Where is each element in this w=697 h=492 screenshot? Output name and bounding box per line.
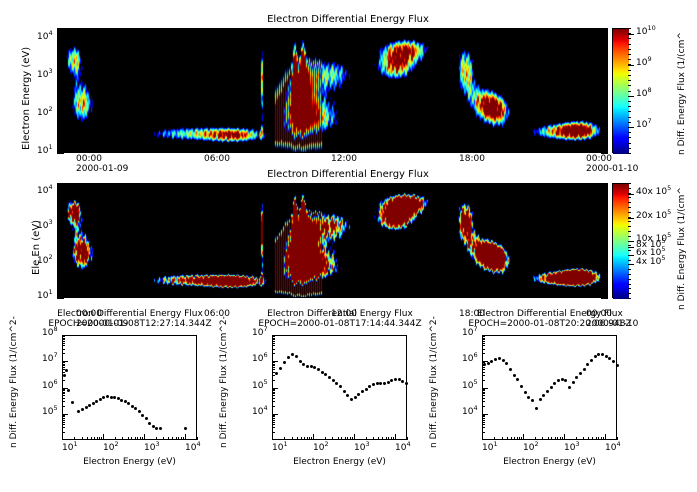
middle-spectrogram-frame — [57, 183, 608, 298]
ytick-minor — [57, 239, 61, 240]
cbar-tick-0 — [628, 194, 634, 195]
spec0-xtick-label-0: 101 — [62, 444, 78, 453]
spectrum-plot-0[interactable] — [62, 335, 197, 440]
xtick-minor-top — [544, 28, 545, 32]
spec2-xtick-minor — [562, 437, 563, 440]
spec2-ytick-minor — [482, 341, 485, 342]
cbar-tick-minor — [628, 274, 631, 275]
xtick-minor-top — [522, 183, 523, 187]
cbar-tick-minor — [628, 202, 631, 203]
spec1-xtick-minor — [338, 437, 339, 440]
cbar-tick-minor — [628, 64, 631, 65]
ytick-minor-right — [604, 41, 608, 42]
xtick-minor-top — [76, 28, 77, 32]
cbar-tick-minor — [628, 241, 631, 242]
spec2-ytick-minor — [482, 369, 485, 370]
spec1-xtick-label-1: 102 — [313, 444, 329, 453]
ytick-minor — [57, 51, 61, 52]
spectrum-point — [306, 365, 309, 368]
xtick-minor-top — [565, 28, 566, 32]
xtick-minor-top — [480, 183, 481, 187]
ytick-label-4: 104 — [37, 33, 53, 42]
xtick-minor-top — [501, 183, 502, 187]
spec2-ytick-minor — [482, 372, 485, 373]
xtick-minor-top — [395, 183, 396, 187]
spectrum-point — [138, 410, 141, 413]
ytick-minor — [57, 48, 61, 49]
spectrum-point — [302, 363, 305, 366]
spec2-ytick-minor — [482, 401, 485, 402]
spec0-ytick-minor — [62, 341, 65, 342]
spec2-ytick-label-1: 106 — [462, 355, 478, 364]
xtick-minor — [416, 149, 417, 153]
spec1-ytick-minor — [272, 338, 275, 339]
spec0-xtick — [144, 434, 145, 440]
xtick-minor — [395, 149, 396, 153]
spec2-xtick-minor — [519, 437, 520, 440]
spec0-ytick-minor — [62, 420, 65, 421]
ytick-minor — [57, 127, 61, 128]
ytick-minor-right — [604, 274, 608, 275]
xtick-minor — [586, 149, 587, 153]
cbar-tick-minor — [628, 122, 631, 123]
spectrum-point — [597, 353, 600, 356]
ytick-minor — [57, 43, 61, 44]
ytick-minor-right — [604, 124, 608, 125]
cbar-tick-minor — [628, 279, 631, 280]
cbar-tick-0 — [628, 34, 634, 35]
ytick-minor — [57, 199, 61, 200]
spec2-xtick-minor — [583, 437, 584, 440]
spec1-xtick-minor — [304, 437, 305, 440]
spec2-ytick-minor — [482, 353, 485, 354]
spec2-xtick-minor — [502, 437, 503, 440]
ytick-minor — [57, 79, 61, 80]
ytick-minor — [57, 232, 61, 233]
xtick-date-0: 2000-01-09 — [76, 165, 128, 174]
spec2-ytick-minor — [482, 345, 485, 346]
cbar-tick-minor — [628, 193, 631, 194]
spectrum-point — [498, 357, 501, 360]
spec1-ytick-minor — [272, 341, 275, 342]
spec2-ytick-minor — [482, 367, 485, 368]
spectrum-point — [71, 401, 74, 404]
cbar-tick-minor — [628, 75, 631, 76]
spec0-xtick-minor — [128, 437, 129, 440]
ytick-minor — [57, 269, 61, 270]
spectrum-epoch-1: EPOCH=2000-01-08T17:14:44.344Z — [258, 320, 421, 329]
spectrum-point — [339, 385, 342, 388]
cbar-tick-minor — [628, 96, 631, 97]
spectrum-point — [539, 398, 542, 401]
spec2-ytick-minor — [482, 339, 485, 340]
spec0-xtick-minor — [172, 437, 173, 440]
spec2-xtick-minor — [517, 437, 518, 440]
spec1-ytick-label-3: 104 — [252, 408, 268, 417]
cbar-tick-minor — [628, 188, 631, 189]
xtick-minor-top — [182, 183, 183, 187]
cbar-tick-minor — [628, 293, 631, 294]
spectrum-point — [379, 382, 382, 385]
cbar-tick-minor — [628, 91, 631, 92]
spec2-ytick-minor — [482, 362, 485, 363]
spec0-ytick-label-0: 108 — [42, 329, 58, 338]
spec1-xtick-minor — [378, 437, 379, 440]
ytick-major-2 — [57, 115, 64, 116]
spec2-xtick-minor — [576, 437, 577, 440]
xtick-minor-top — [607, 28, 608, 32]
xtick-minor-top — [459, 183, 460, 187]
ytick-minor-right — [604, 267, 608, 268]
xtick-minor-top — [97, 28, 98, 32]
spec1-xtick-minor — [366, 437, 367, 440]
spec2-xtick-minor — [514, 437, 515, 440]
spec1-xtick-minor — [307, 437, 308, 440]
xtick-minor-top — [331, 183, 332, 187]
spec0-ytick-minor — [62, 365, 65, 366]
ytick-minor-right — [604, 236, 608, 237]
cbar-tick-minor — [628, 197, 631, 198]
ytick-label-2: 102 — [37, 257, 53, 266]
xtick-minor-top — [140, 28, 141, 32]
spec1-ytick-minor — [272, 345, 275, 346]
xtick-minor-top — [395, 28, 396, 32]
ytick-minor — [57, 45, 61, 46]
spectrum-title-2: Electron Differential Energy Flux — [477, 310, 623, 319]
cbar-tick-minor — [628, 231, 631, 232]
spectrum-point — [502, 359, 505, 362]
spec1-ytick-minor — [272, 343, 275, 344]
spec1-ylabel: n Diff. Energy Flux (1/(cm^2- — [220, 316, 229, 448]
spec2-ytick-minor — [482, 432, 485, 433]
spec0-ytick-minor — [62, 418, 65, 419]
ytick-minor — [57, 288, 61, 289]
spectrum-point — [65, 369, 68, 372]
middle-colorbar[interactable] — [612, 183, 628, 298]
cbar-tick-minor — [628, 269, 631, 270]
spectrum-point — [120, 399, 123, 402]
spec0-ylabel: n Diff. Energy Flux (1/(cm^2- — [10, 316, 19, 448]
spec2-ytick-minor — [482, 398, 485, 399]
ytick-minor-right — [604, 234, 608, 235]
spectrum-point — [279, 367, 282, 370]
xtick-minor-top — [437, 28, 438, 32]
cbar-label-1: 109 — [636, 59, 652, 68]
ytick-minor — [57, 267, 61, 268]
ytick-major-1 — [57, 298, 64, 299]
cbar-tick-minor — [628, 59, 631, 60]
spec1-xtick-minor — [284, 437, 285, 440]
spec2-ytick-minor — [482, 393, 485, 394]
cbar-tick-minor — [628, 85, 631, 86]
spec2-xtick-minor — [603, 437, 604, 440]
xtick-minor — [395, 294, 396, 298]
cbar-label-2: 108 — [636, 90, 652, 99]
ytick-minor-right — [604, 247, 608, 248]
spec1-xtick-minor — [292, 437, 293, 440]
spec0-xtick-minor — [94, 437, 95, 440]
xtick-minor-top — [480, 28, 481, 32]
ytick-minor — [57, 92, 61, 93]
cbar-label-1: 20x 105 — [636, 212, 671, 221]
spectrum-point — [275, 372, 278, 375]
spec0-ytick-minor — [62, 424, 65, 425]
xtick-label-4: 00:00 — [586, 155, 612, 164]
spectrum-point — [159, 427, 162, 430]
cbar-tick-minor — [628, 221, 631, 222]
ytick-minor-right — [604, 195, 608, 196]
spectrum-point — [590, 359, 593, 362]
spec0-xtick — [62, 434, 63, 440]
xtick-minor — [204, 294, 205, 298]
spec1-ytick-minor — [272, 418, 275, 419]
ytick-minor — [57, 54, 61, 55]
cbar-label-3: 107 — [636, 121, 652, 130]
xtick-minor — [161, 294, 162, 298]
ytick-minor — [57, 265, 61, 266]
spec2-xtick-minor — [507, 437, 508, 440]
ytick-minor-right — [604, 204, 608, 205]
ytick-minor-right — [604, 127, 608, 128]
spec0-ytick-minor — [62, 353, 65, 354]
spectrum-point — [583, 368, 586, 371]
ytick-minor — [57, 212, 61, 213]
spectrum-point — [487, 362, 490, 365]
top-colorbar[interactable] — [612, 28, 628, 153]
spec1-ytick-minor — [272, 336, 275, 337]
cbar-tick-minor — [628, 226, 631, 227]
ytick-major-right-2 — [601, 263, 608, 264]
xtick-label-2: 12:00 — [331, 155, 357, 164]
ytick-minor-right — [604, 212, 608, 213]
ytick-minor — [57, 135, 61, 136]
spectrum-point — [405, 382, 408, 385]
spectrum-point — [564, 379, 567, 382]
cbar-label-5: 4x 105 — [636, 258, 666, 267]
cbar-tick-minor — [628, 106, 631, 107]
spectrum-point — [383, 382, 386, 385]
spec0-xtick-minor — [115, 437, 116, 440]
spec0-xtick-minor — [97, 437, 98, 440]
cbar-tick-minor — [628, 153, 631, 154]
cbar-tick-minor — [628, 70, 631, 71]
xtick-minor-top — [310, 183, 311, 187]
spectrum-point — [605, 355, 608, 358]
spectrum-point — [291, 353, 294, 356]
spec1-ytick-minor — [272, 372, 275, 373]
xtick-minor-top — [565, 183, 566, 187]
cbar-tick-minor — [628, 284, 631, 285]
xtick-minor-top — [544, 183, 545, 187]
cbar-tick-minor — [628, 264, 631, 265]
spec0-xtick-minor — [140, 437, 141, 440]
ytick-minor-right — [604, 230, 608, 231]
spec0-ytick-minor — [62, 338, 65, 339]
spec1-ytick-minor — [272, 390, 275, 391]
xtick-minor — [565, 149, 566, 153]
spec0-ytick-minor — [62, 398, 65, 399]
ytick-minor — [57, 142, 61, 143]
cbar-tick-minor — [628, 54, 631, 55]
spec2-ytick-minor — [482, 389, 485, 390]
spec0-ytick-minor — [62, 401, 65, 402]
spec0-ytick-minor — [62, 380, 65, 381]
xtick-minor — [331, 294, 332, 298]
spec2-xtick-minor — [588, 437, 589, 440]
middle-colorbar-label: n Diff. Energy Flux (1/(cm^ — [678, 187, 687, 310]
xtick-minor — [522, 294, 523, 298]
xtick-minor — [607, 149, 608, 153]
xtick-minor — [225, 149, 226, 153]
spectrum-point — [127, 402, 130, 405]
spectrum-plot-2[interactable] — [482, 335, 617, 440]
xtick-minor — [76, 294, 77, 298]
ytick-minor-right — [604, 92, 608, 93]
spec1-ytick-minor — [272, 389, 275, 390]
cbar-tick-minor — [628, 260, 631, 261]
spectrum-point — [88, 404, 91, 407]
ytick-minor-right — [604, 130, 608, 131]
ytick-minor-right — [604, 135, 608, 136]
ytick-major-2 — [57, 263, 64, 264]
spec0-xtick — [185, 434, 186, 440]
spectrum-point — [81, 408, 84, 411]
spectrum-point — [616, 364, 619, 367]
spec2-ytick-minor — [482, 415, 485, 416]
xtick-minor — [267, 149, 268, 153]
spec0-ytick-minor — [62, 336, 65, 337]
spec1-xtick-label-3: 104 — [395, 444, 411, 453]
xtick-minor — [76, 149, 77, 153]
cbar-tick-minor — [628, 255, 631, 256]
spec2-ytick-minor — [482, 406, 485, 407]
spec1-xtick-minor — [373, 437, 374, 440]
xtick-date-4: 2000-01-10 — [586, 165, 638, 174]
cbar-tick-minor — [628, 28, 631, 29]
spec0-xtick-minor — [137, 437, 138, 440]
spec1-xtick-minor — [347, 437, 348, 440]
spec2-ytick-minor — [482, 380, 485, 381]
ytick-minor — [57, 104, 61, 105]
spectrum-point — [542, 394, 545, 397]
xtick-minor-top — [267, 183, 268, 187]
cbar-label-0: 1010 — [636, 28, 656, 37]
spec1-ytick-minor — [272, 392, 275, 393]
spectrum-point — [594, 355, 597, 358]
spec1-ytick-minor — [272, 395, 275, 396]
spec2-xtick-minor — [548, 437, 549, 440]
spec2-ytick-minor — [482, 416, 485, 417]
spec2-ytick-minor — [482, 424, 485, 425]
xtick-minor-top — [119, 183, 120, 187]
ytick-minor — [57, 197, 61, 198]
xtick-minor-top — [374, 183, 375, 187]
spec2-ytick-label-3: 104 — [462, 408, 478, 417]
spectrum-point — [387, 381, 390, 384]
spectrum-point — [321, 371, 324, 374]
ytick-major-1 — [57, 153, 64, 154]
xtick-minor-top — [416, 183, 417, 187]
ytick-minor-right — [604, 89, 608, 90]
ytick-label-4: 104 — [37, 187, 53, 196]
spec0-xtick-minor — [74, 437, 75, 440]
spec0-ytick-minor — [62, 389, 65, 390]
xtick-minor — [267, 294, 268, 298]
xtick-minor — [459, 149, 460, 153]
spec2-xtick — [605, 434, 606, 440]
spec2-ytick-minor — [482, 422, 485, 423]
xtick-minor-top — [331, 28, 332, 32]
ytick-label-2: 102 — [37, 109, 53, 118]
spec0-ytick-minor — [62, 349, 65, 350]
ytick-minor — [57, 236, 61, 237]
spectrum-point — [343, 390, 346, 393]
spectrum-point — [155, 427, 158, 430]
spec2-xtick-minor — [560, 437, 561, 440]
xtick-minor — [289, 294, 290, 298]
spec0-xtick-minor — [197, 437, 198, 440]
xtick-minor — [522, 149, 523, 153]
spec0-xtick-minor — [156, 437, 157, 440]
xtick-minor-top — [76, 183, 77, 187]
xtick-minor — [459, 294, 460, 298]
ytick-major-4 — [57, 193, 64, 194]
spec0-xlabel: Electron Energy (eV) — [83, 458, 176, 467]
spectrum-point — [295, 355, 298, 358]
spec0-xtick-minor — [87, 437, 88, 440]
xtick-minor — [374, 149, 375, 153]
spectrum-point — [141, 414, 144, 417]
ytick-minor — [57, 204, 61, 205]
ytick-minor — [57, 234, 61, 235]
spec2-xtick-minor — [511, 437, 512, 440]
spec2-ytick-minor — [482, 336, 485, 337]
xtick-minor-top — [522, 28, 523, 32]
ytick-minor-right — [604, 121, 608, 122]
spec0-xtick-minor — [91, 437, 92, 440]
cbar-tick-minor — [628, 217, 631, 218]
xtick-minor-top — [140, 183, 141, 187]
cbar-tick-minor — [628, 236, 631, 237]
ytick-minor-right — [604, 119, 608, 120]
spec1-ytick-label-2: 105 — [252, 382, 268, 391]
spectrum-plot-1[interactable] — [272, 335, 407, 440]
xtick-minor — [182, 149, 183, 153]
spec2-ytick-label-2: 105 — [462, 382, 478, 391]
spectrum-point — [332, 379, 335, 382]
ytick-major-3 — [57, 77, 64, 78]
spec0-ytick-minor — [62, 390, 65, 391]
xtick-minor-top — [204, 28, 205, 32]
spec0-ytick-minor — [62, 415, 65, 416]
spec0-xtick-minor — [99, 437, 100, 440]
ytick-minor-right — [604, 51, 608, 52]
spec1-xtick-minor — [382, 437, 383, 440]
ytick-minor — [57, 117, 61, 118]
spec2-xtick-label-0: 101 — [482, 444, 498, 453]
cbar-tick-minor — [628, 111, 631, 112]
spec1-ytick-minor — [272, 367, 275, 368]
spectrum-point — [372, 383, 375, 386]
xtick-minor-top — [225, 183, 226, 187]
spec2-xtick-minor — [592, 437, 593, 440]
ytick-minor — [57, 121, 61, 122]
spec0-ytick-minor — [62, 339, 65, 340]
xtick-minor — [204, 149, 205, 153]
xtick-minor-top — [459, 28, 460, 32]
xtick-minor-top — [119, 28, 120, 32]
ytick-minor-right — [604, 197, 608, 198]
